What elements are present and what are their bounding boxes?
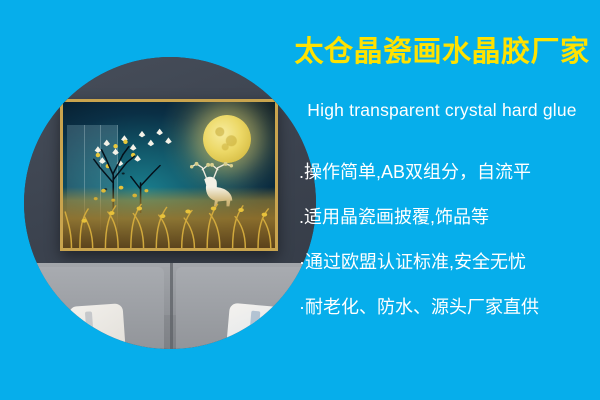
throw-pillow-right <box>226 303 284 349</box>
sofa-seam <box>170 263 173 349</box>
feature-bullet-1: .操作简单,AB双组分，自流平 <box>299 150 600 195</box>
product-banner: 太仓晶瓷画水晶胶厂家 High transparent crystal hard… <box>0 0 600 400</box>
product-photo-circle <box>24 57 316 349</box>
pillow-stripe <box>85 311 94 345</box>
moon-icon <box>203 115 251 163</box>
feature-bullet-4: ·耐老化、防水、源头厂家直供 <box>299 285 600 330</box>
painting-grass-field <box>63 187 275 248</box>
throw-pillow-left <box>69 303 126 349</box>
pillow-stripe <box>248 311 260 346</box>
page-title: 太仓晶瓷画水晶胶厂家 <box>284 34 600 70</box>
page-subtitle: High transparent crystal hard glue <box>284 98 600 122</box>
feature-bullet-2: .适用晶瓷画披覆,饰品等 <box>299 195 600 240</box>
framed-painting <box>60 99 278 251</box>
feature-bullet-3: ·通过欧盟认证标准,安全无忧 <box>299 240 600 285</box>
sofa <box>24 263 316 349</box>
feature-bullet-list: .操作简单,AB双组分，自流平 .适用晶瓷画披覆,饰品等 ·通过欧盟认证标准,安… <box>299 150 600 330</box>
